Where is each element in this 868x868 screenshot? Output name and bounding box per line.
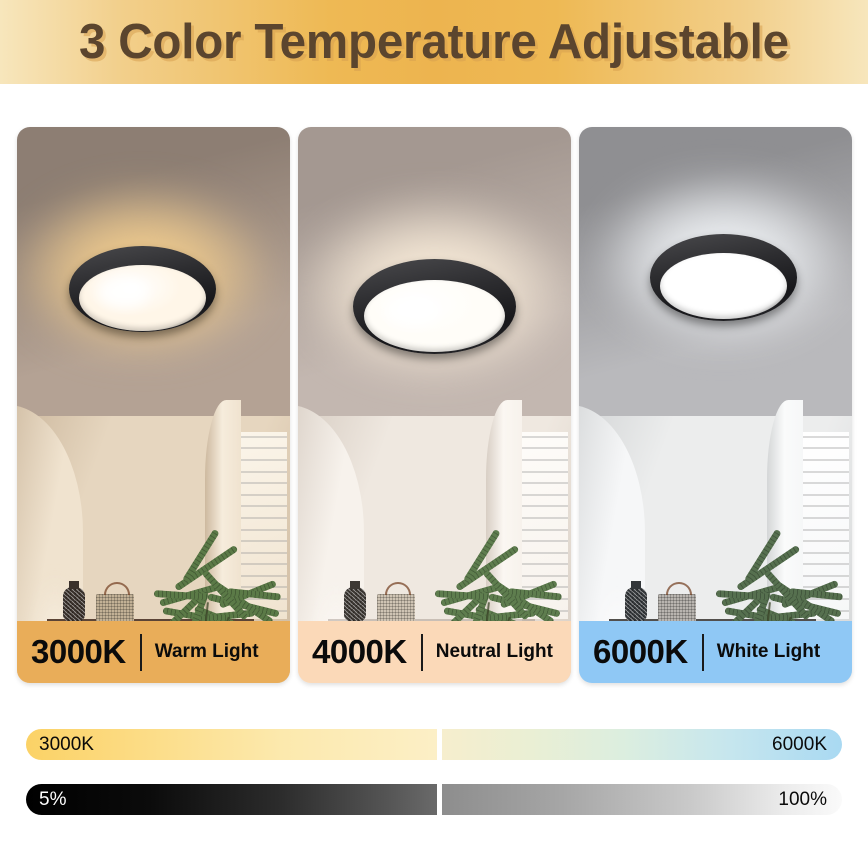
color-temperature-bar[interactable]: 3000K 6000K — [26, 729, 842, 760]
brightness-bar-right-label: 100% — [778, 789, 827, 811]
light-name-6000k: White Light — [717, 641, 820, 663]
window-blind-slat — [522, 540, 568, 542]
brightness-bar-right-segment: 100% — [442, 784, 842, 815]
light-name-3000k: Warm Light — [155, 641, 259, 663]
window-blind-slat — [522, 447, 568, 449]
kelvin-value-6000k: 6000K — [593, 633, 688, 671]
window-blind-slat — [241, 552, 287, 554]
window-blind-slat — [522, 552, 568, 554]
window-blind-slat — [241, 517, 287, 519]
kelvin-value-4000k: 4000K — [312, 633, 407, 671]
window-blind-slat — [522, 482, 568, 484]
ceiling-lamp-3000k — [69, 246, 216, 333]
window-blind-slat — [803, 471, 849, 473]
room-scene-3000k — [17, 127, 290, 683]
woven-basket — [377, 594, 415, 622]
decorative-vase — [63, 587, 85, 622]
decorative-vase — [625, 587, 647, 622]
ceiling-lamp-6000k — [650, 234, 797, 321]
ct-bar-right-label: 6000K — [772, 734, 827, 756]
window-blind-slat — [803, 540, 849, 542]
ct-bar-right-segment: 6000K — [442, 729, 842, 760]
room-scene-4000k — [298, 127, 571, 683]
page-title: 3 Color Temperature Adjustable — [79, 14, 789, 70]
panel-card-6000k[interactable]: 6000K White Light — [579, 127, 852, 683]
window-blind-slat — [803, 459, 849, 461]
lamp-specular-highlight — [385, 295, 441, 327]
header-banner: 3 Color Temperature Adjustable — [0, 0, 868, 84]
ct-bar-left-segment: 3000K — [26, 729, 437, 760]
window-blind-slat — [241, 482, 287, 484]
window-blind-slat — [522, 505, 568, 507]
window-blind-slat — [241, 540, 287, 542]
ceiling-4000k — [298, 127, 571, 416]
window-blind-slat — [522, 436, 568, 438]
window-blind-slat — [803, 482, 849, 484]
window-blind-slat — [803, 552, 849, 554]
label-divider — [140, 634, 142, 671]
window-blind-slat — [803, 529, 849, 531]
ceiling-6000k — [579, 127, 852, 416]
window-blind-slat — [522, 459, 568, 461]
infographic-page: 3 Color Temperature Adjustable — [0, 0, 868, 868]
window-blind-slat — [522, 494, 568, 496]
label-bar-3000k: 3000K Warm Light — [17, 621, 290, 683]
kelvin-value-3000k: 3000K — [31, 633, 126, 671]
window-blind-slat — [522, 471, 568, 473]
brightness-bar-left-label: 5% — [39, 789, 66, 811]
window-blind-slat — [241, 447, 287, 449]
window-blind-slat — [241, 494, 287, 496]
vase-neck — [69, 581, 78, 589]
ct-bar-left-label: 3000K — [39, 734, 94, 756]
brightness-bar[interactable]: 5% 100% — [26, 784, 842, 815]
lamp-specular-highlight — [98, 278, 148, 307]
vase-neck — [350, 581, 359, 589]
color-temperature-panels: 3000K Warm Light — [17, 127, 852, 683]
window-blind-slat — [803, 436, 849, 438]
window-blind-slat — [241, 459, 287, 461]
window-blind-slat — [522, 529, 568, 531]
ceiling-3000k — [17, 127, 290, 416]
ceiling-lamp-4000k — [353, 259, 517, 354]
window-blind-slat — [241, 436, 287, 438]
woven-basket — [658, 594, 696, 622]
vase-neck — [631, 581, 640, 589]
window-blind-slat — [803, 505, 849, 507]
window-blind-slat — [241, 529, 287, 531]
decorative-vase — [344, 587, 366, 622]
panel-card-3000k[interactable]: 3000K Warm Light — [17, 127, 290, 683]
panel-card-4000k[interactable]: 4000K Neutral Light — [298, 127, 571, 683]
window-blind-slat — [241, 505, 287, 507]
woven-basket — [96, 594, 134, 622]
label-divider — [421, 634, 423, 671]
room-scene-6000k — [579, 127, 852, 683]
brightness-bar-left-segment: 5% — [26, 784, 437, 815]
window-blind-slat — [522, 517, 568, 519]
light-name-4000k: Neutral Light — [436, 641, 553, 663]
window-blind-slat — [803, 517, 849, 519]
window-blind-slat — [241, 471, 287, 473]
window-blind-slat — [803, 447, 849, 449]
label-bar-4000k: 4000K Neutral Light — [298, 621, 571, 683]
lamp-specular-highlight — [679, 267, 729, 296]
label-divider — [702, 634, 704, 671]
gradient-bars: 3000K 6000K 5% 100% — [26, 729, 842, 839]
window-blind-slat — [803, 494, 849, 496]
label-bar-6000k: 6000K White Light — [579, 621, 852, 683]
